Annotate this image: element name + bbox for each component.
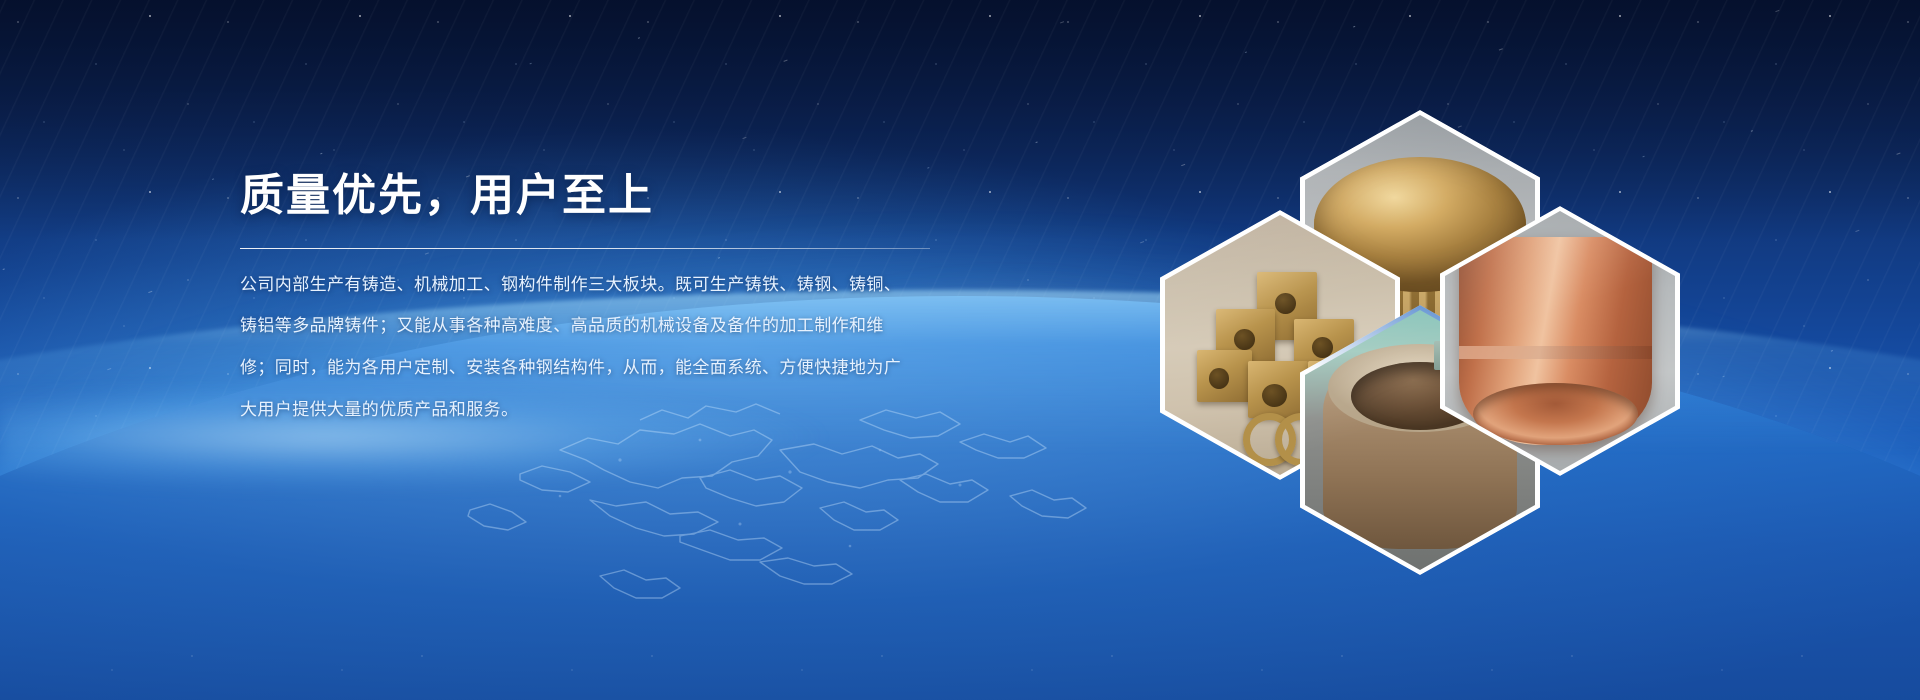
title-divider bbox=[240, 248, 930, 249]
page-title: 质量优先，用户至上 bbox=[240, 170, 940, 222]
hero-text-block: 质量优先，用户至上 公司内部生产有铸造、机械加工、钢构件制作三大板块。既可生产铸… bbox=[240, 170, 940, 423]
description-line: 公司内部生产有铸造、机械加工、钢构件制作三大板块。既可生产铸铁、铸钢、铸铜、 bbox=[240, 271, 940, 299]
description-line: 修；同时，能为各用户定制、安装各种钢结构件，从而，能全面系统、方便快捷地为广 bbox=[240, 354, 940, 382]
hexagon-gallery bbox=[1140, 110, 1740, 550]
description-line: 大用户提供大量的优质产品和服务。 bbox=[240, 396, 940, 424]
hero-description: 公司内部生产有铸造、机械加工、钢构件制作三大板块。既可生产铸铁、铸钢、铸铜、 铸… bbox=[240, 271, 940, 423]
hero-banner: 质量优先，用户至上 公司内部生产有铸造、机械加工、钢构件制作三大板块。既可生产铸… bbox=[0, 0, 1920, 700]
description-line: 铸铝等多品牌铸件；又能从事各种高难度、高品质的机械设备及备件的加工制作和维 bbox=[240, 312, 940, 340]
